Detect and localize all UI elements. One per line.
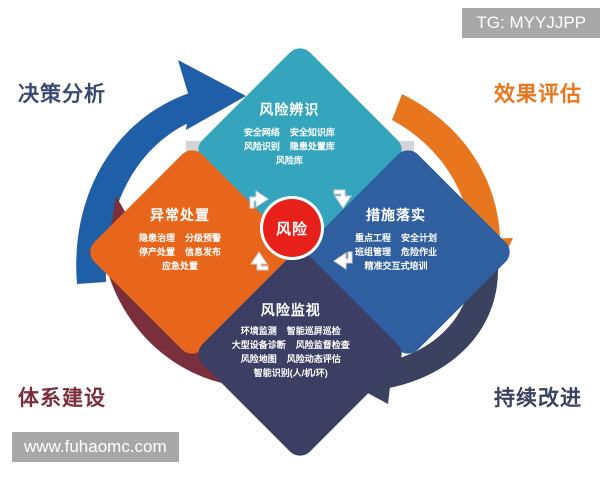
center-hub[interactable]: 风险	[263, 199, 321, 257]
connector-arrow-icon	[246, 248, 272, 274]
diamond-row: 精准交互式培训	[364, 260, 427, 272]
diamond-item: 智能巡屏巡检	[287, 325, 341, 337]
diamond-item: 分级预警	[185, 232, 221, 244]
diamond-item: 风险识别	[244, 141, 280, 153]
connector-arrow-icon	[330, 186, 356, 212]
watermark-website: www.fuhaomc.com	[12, 432, 179, 462]
diamond-item: 大型设备诊断	[232, 339, 286, 351]
diamond-item: 隐患处置库	[290, 141, 335, 153]
diamond-row: 应急处置	[162, 260, 198, 272]
diamond-item: 安全网络	[244, 127, 280, 139]
stage-label-continuous-improvement: 持续改进	[494, 382, 582, 412]
stage-label-effect-evaluation: 效果评估	[494, 78, 582, 108]
connector-arrow-icon	[330, 248, 356, 274]
diamond-item: 风险库	[276, 155, 303, 167]
diamond-item: 信息发布	[185, 246, 221, 258]
watermark-telegram: TG: MYYJJPP	[462, 8, 600, 38]
diamond-item: 重点工程	[355, 232, 391, 244]
diamond-cluster: 风险辨识 安全网络 安全知识库 风险识别 隐患处置库 风险库	[140, 98, 460, 358]
diamond-row: 智能识别(人/机/环)	[254, 367, 328, 379]
diamond-item: 危险作业	[401, 246, 437, 258]
diamond-item: 风险地图	[241, 353, 277, 365]
diamond-row: 重点工程 安全计划	[355, 232, 437, 244]
diamond-row: 风险地图 风险动态评估	[241, 353, 341, 365]
diamond-row: 安全网络 安全知识库	[244, 127, 335, 139]
diamond-row: 风险库	[276, 155, 303, 167]
connector-arrow-icon	[246, 186, 272, 212]
diamond-row: 大型设备诊断 风险监督检查	[232, 339, 350, 351]
diamond-title-measure-implementation: 措施落实	[366, 205, 426, 225]
diamond-title-risk-monitoring: 风险监视	[261, 300, 321, 320]
diamond-item: 环境监测	[241, 325, 277, 337]
diamond-item: 隐患治理	[139, 232, 175, 244]
diamond-item: 精准交互式培训	[364, 260, 427, 272]
diamond-item: 应急处置	[162, 260, 198, 272]
diamond-row: 环境监测 智能巡屏巡检	[241, 325, 341, 337]
diamond-row: 隐患治理 分级预警	[139, 232, 221, 244]
diamond-item: 风险动态评估	[287, 353, 341, 365]
diamond-item: 停产处置	[139, 246, 175, 258]
diamond-item: 安全计划	[401, 232, 437, 244]
stage-label-system-construction: 体系建设	[18, 382, 106, 412]
diamond-row: 风险识别 隐患处置库	[244, 141, 335, 153]
diamond-row: 停产处置 信息发布	[139, 246, 221, 258]
diamond-title-risk-identification: 风险辨识	[259, 100, 319, 120]
stage-label-decision-analysis: 决策分析	[18, 78, 106, 108]
infographic-canvas: 风险辨识 安全网络 安全知识库 风险识别 隐患处置库 风险库	[0, 0, 600, 480]
diamond-item: 风险监督检查	[296, 339, 350, 351]
diamond-title-abnormal-handling: 异常处置	[150, 205, 210, 225]
diamond-item: 智能识别(人/机/环)	[254, 367, 328, 379]
center-hub-label: 风险	[276, 218, 308, 239]
diamond-item: 安全知识库	[290, 127, 335, 139]
diamond-row: 班组管理 危险作业	[355, 246, 437, 258]
diamond-item: 班组管理	[355, 246, 391, 258]
